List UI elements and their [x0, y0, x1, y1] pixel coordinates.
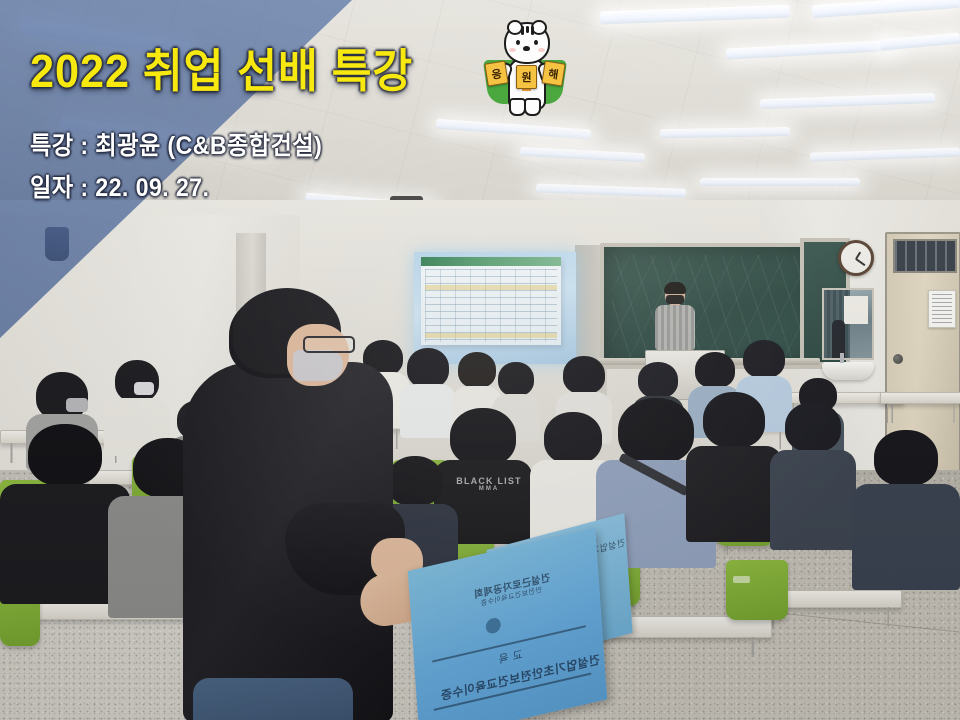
- door-knob[interactable]: [893, 354, 903, 364]
- mascot-eye-left: [516, 40, 520, 45]
- jeans: [193, 678, 353, 720]
- door-window: [893, 239, 957, 273]
- projected-document: [421, 257, 561, 345]
- lecturer: [653, 284, 697, 358]
- mascot-nose: [523, 46, 530, 51]
- foreground-student: [175, 288, 390, 720]
- student: [770, 402, 856, 550]
- mascot-cheek-left: [509, 48, 516, 52]
- mascot-stripe: [521, 26, 524, 35]
- glasses: [303, 336, 355, 353]
- mascot-stripe: [531, 26, 534, 35]
- chair: [726, 560, 788, 620]
- spreadsheet-ribbon: [421, 257, 561, 266]
- mirror-paper: [844, 296, 868, 324]
- student: [686, 392, 782, 542]
- mascot-sign-3: 해: [541, 60, 565, 86]
- tshirt-line2: MMA: [447, 486, 531, 493]
- date-line: 일자 : 22. 09. 27.: [30, 168, 209, 204]
- student: [852, 430, 960, 590]
- tiger-mascot-icon: 응 원 해: [484, 18, 566, 114]
- clock-minute-hand: [856, 258, 866, 266]
- highlight-band: [425, 285, 557, 290]
- desk: [880, 392, 960, 404]
- tshirt-print: BLACK LIST MMA: [447, 476, 531, 493]
- mascot-stripe: [526, 26, 529, 33]
- wall-mirror: [822, 288, 874, 360]
- speaker-line: 특강 : 최광윤 (C&B종합건설): [30, 126, 322, 162]
- handout-front-page: 건설근로자공제회 안전보건교육이수증 교 육 건설업기초안전보건교육이수증: [408, 528, 607, 720]
- lecturer-body: [655, 305, 695, 350]
- mascot-cheek-right: [538, 48, 545, 52]
- mascot-leg-right: [524, 98, 541, 116]
- organization-seal: [485, 617, 501, 635]
- blue-handout: 건설업기초안전보건교육이수증 건설근로자공제회 안전보건교육이수증 교 육 건설…: [406, 530, 648, 720]
- door-notice: [928, 290, 956, 328]
- mascot-head: [504, 22, 550, 64]
- mascot-sign-1: 응: [484, 60, 508, 86]
- mascot-sign-2: 원: [516, 65, 537, 89]
- face-mask: [293, 350, 343, 381]
- promo-image: BLACK LIST MMA: [0, 0, 960, 720]
- highlight-band: [425, 333, 557, 338]
- tshirt-line1: BLACK LIST: [447, 476, 531, 486]
- page-title: 2022 취업 선배 특강: [30, 48, 413, 94]
- spreadsheet-grid: [425, 269, 557, 342]
- ceiling-light: [700, 178, 860, 186]
- mascot-eye-right: [534, 40, 538, 45]
- lecturer-hair: [664, 282, 686, 294]
- wall-clock: [838, 240, 874, 276]
- face-mask: [666, 295, 684, 304]
